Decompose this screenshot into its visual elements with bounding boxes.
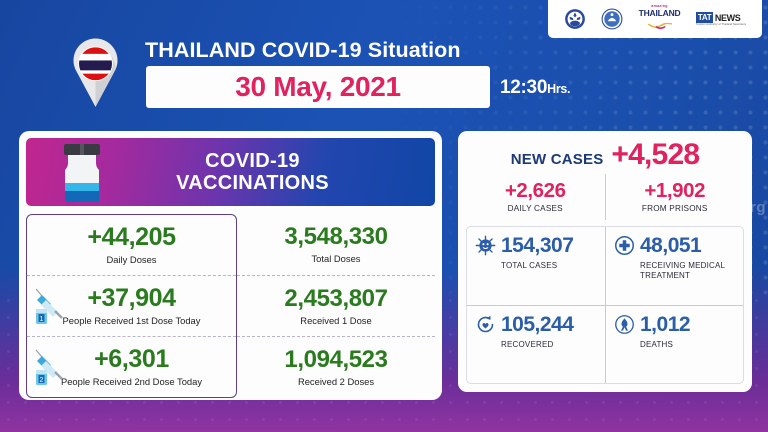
thailand-flag-map-pin-icon xyxy=(68,36,123,108)
svg-text:1: 1 xyxy=(40,316,44,323)
vaccination-today-column: +44,205 Daily Doses 1 +37,904 People Rec… xyxy=(26,214,237,398)
amazing-thailand-logo: amazing THAILAND xyxy=(639,5,681,33)
vax-value: 1,094,523 xyxy=(284,348,387,372)
breakdown-label: FROM PRISONS xyxy=(642,204,708,213)
vax-value: 2,453,807 xyxy=(284,287,387,311)
new-cases-label: NEW CASES xyxy=(511,151,604,168)
ribbon-icon xyxy=(614,314,635,335)
svg-text:2: 2 xyxy=(40,377,44,384)
vax-label: Daily Doses xyxy=(106,254,156,265)
swoosh-icon xyxy=(647,23,673,29)
date-box: 30 May, 2021 xyxy=(146,66,490,108)
stat-value: 1,012 xyxy=(640,314,690,335)
breakdown-value: +1,902 xyxy=(644,181,705,202)
stat-value: 154,307 xyxy=(501,235,573,256)
tat-news-word: NEWS xyxy=(715,13,740,23)
stat-label: RECEIVING MEDICAL TREATMENT xyxy=(640,261,737,282)
vaccination-card: COVID-19 VACCINATIONS +44,205 Daily Dose… xyxy=(19,131,442,400)
vaccination-title-line2: VACCINATIONS xyxy=(70,172,435,194)
vax-row-daily-doses: +44,205 Daily Doses xyxy=(27,215,236,275)
stat-label: DEATHS xyxy=(640,340,737,350)
stat-recovered: 105,244 RECOVERED xyxy=(467,305,605,383)
recovery-heart-icon xyxy=(475,314,496,335)
time-value: 12:30 xyxy=(500,77,547,98)
syringe-dose-2-icon: 2 xyxy=(31,346,65,388)
stat-value: 48,051 xyxy=(640,235,701,256)
vax-row-received-2-doses: 1,094,523 Received 2 Doses xyxy=(237,336,435,398)
vax-label: People Received 1st Dose Today xyxy=(63,315,201,326)
department-seal-logo xyxy=(601,8,623,30)
tat-news-logo: TAT NEWS Tourism Authority of Thailand N… xyxy=(696,12,746,26)
stat-total-cases: 154,307 TOTAL CASES xyxy=(467,227,605,305)
vaccination-title-line1: COVID-19 xyxy=(70,150,435,172)
breakdown-label: DAILY CASES xyxy=(508,204,563,213)
breakdown-daily-cases: +2,626 DAILY CASES xyxy=(466,174,605,220)
logo-bar: amazing THAILAND TAT NEWS Tourism Author… xyxy=(548,0,762,38)
vax-value: +6,301 xyxy=(94,347,169,372)
stat-value: 105,244 xyxy=(501,314,573,335)
vax-row-second-dose-today: 2 +6,301 People Received 2nd Dose Today xyxy=(27,336,236,397)
vax-row-total-doses: 3,548,330 Total Doses xyxy=(237,214,435,275)
vax-label: Received 1 Dose xyxy=(300,315,371,326)
breakdown-from-prisons: +1,902 FROM PRISONS xyxy=(605,174,745,220)
time-unit: Hrs. xyxy=(547,82,570,96)
stat-label: RECOVERED xyxy=(501,340,599,350)
syringe-dose-1-icon: 1 xyxy=(31,285,65,327)
vaccination-table: +44,205 Daily Doses 1 +37,904 People Rec… xyxy=(26,214,435,398)
vaccination-total-column: 3,548,330 Total Doses 2,453,807 Received… xyxy=(237,214,435,398)
cases-card: NEW CASES +4,528 +2,626 DAILY CASES +1,9… xyxy=(458,131,752,392)
stats-grid: 154,307 TOTAL CASES 48,051 RECEIVING MED… xyxy=(466,226,744,384)
vax-label: Total Doses xyxy=(312,253,361,264)
page-title: THAILAND COVID-19 Situation xyxy=(145,38,461,63)
new-cases-row: NEW CASES +4,528 xyxy=(466,138,744,174)
vaccine-bottle-icon xyxy=(52,142,112,204)
virus-icon xyxy=(475,235,496,256)
stat-receiving-medical-treatment: 48,051 RECEIVING MEDICAL TREATMENT xyxy=(605,227,743,305)
time-display: 12:30Hrs. xyxy=(500,77,570,99)
vax-value: 3,548,330 xyxy=(284,225,387,249)
medical-cross-icon xyxy=(614,235,635,256)
ministry-of-public-health-logo xyxy=(564,8,586,30)
breakdown-value: +2,626 xyxy=(505,181,566,202)
stat-deaths: 1,012 DEATHS xyxy=(605,305,743,383)
vax-label: People Received 2nd Dose Today xyxy=(61,376,202,387)
new-cases-breakdown: +2,626 DAILY CASES +1,902 FROM PRISONS xyxy=(466,174,744,220)
tat-news-subtitle: Tourism Authority of Thailand Newsroom xyxy=(696,23,746,26)
stat-label: TOTAL CASES xyxy=(501,261,599,271)
vax-value: +37,904 xyxy=(87,286,175,311)
vax-row-first-dose-today: 1 +37,904 People Received 1st Dose Today xyxy=(27,275,236,336)
vax-row-received-1-dose: 2,453,807 Received 1 Dose xyxy=(237,275,435,337)
date-text: 30 May, 2021 xyxy=(235,71,401,103)
vax-value: +44,205 xyxy=(87,225,175,250)
vax-label: Received 2 Doses xyxy=(298,376,374,387)
vaccination-header: COVID-19 VACCINATIONS xyxy=(26,138,435,206)
new-cases-value: +4,528 xyxy=(611,138,699,172)
tat-tag: TAT xyxy=(696,12,713,23)
